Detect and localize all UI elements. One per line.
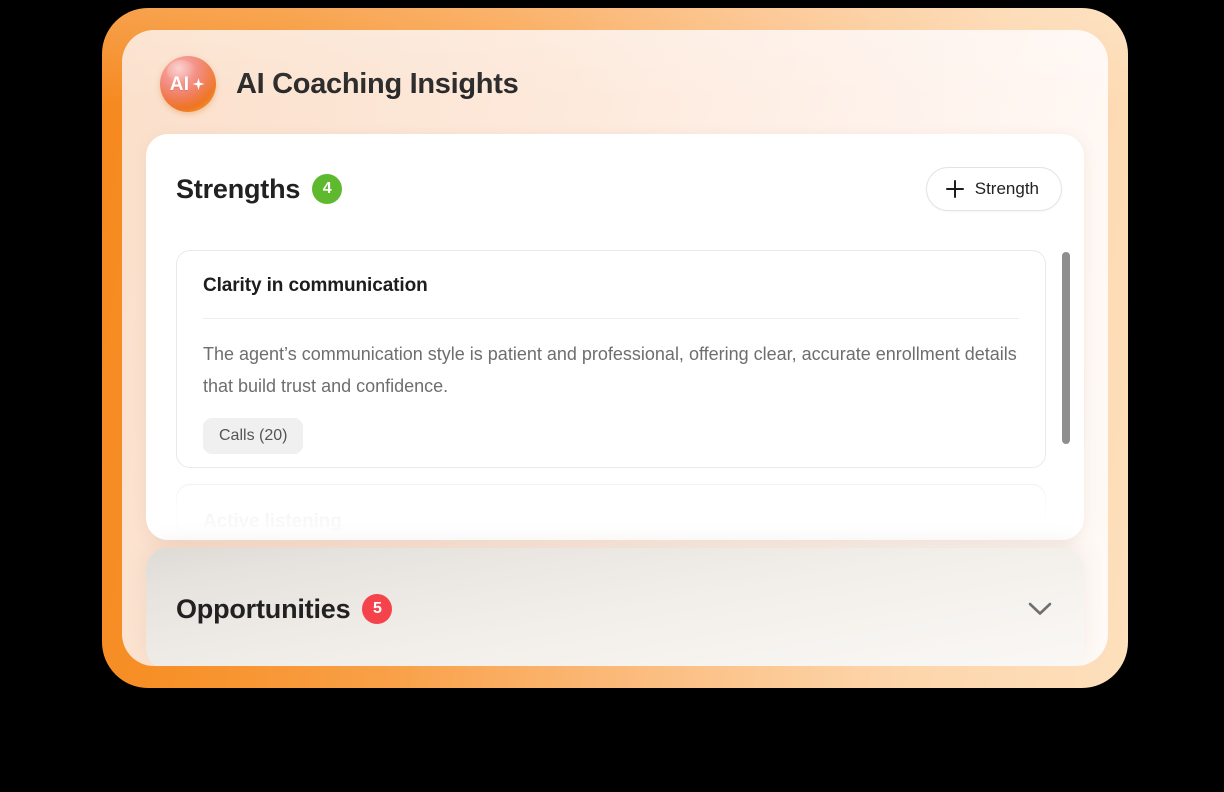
- strengths-title: Strengths: [176, 174, 300, 205]
- strength-item-card[interactable]: Active listening: [176, 484, 1046, 540]
- strength-item-description: The agent’s communication style is patie…: [203, 338, 1019, 402]
- insights-panel: AI AI Coaching Insights Strengths 4: [122, 30, 1108, 666]
- strengths-list[interactable]: Clarity in communication The agent’s com…: [146, 234, 1084, 540]
- panel-header: AI AI Coaching Insights: [160, 56, 518, 112]
- ai-badge-label: AI: [170, 75, 189, 94]
- screenshot-stage: AI AI Coaching Insights Strengths 4: [0, 0, 1224, 792]
- sparkle-icon: [191, 77, 206, 92]
- strengths-count-badge: 4: [312, 174, 342, 204]
- strength-item-calls-tag[interactable]: Calls (20): [203, 418, 303, 454]
- card-divider: [203, 318, 1019, 319]
- strengths-scrollbar-thumb[interactable]: [1062, 252, 1070, 444]
- page-title: AI Coaching Insights: [236, 68, 518, 101]
- opportunities-title-group: Opportunities 5: [176, 594, 392, 625]
- strengths-section: Strengths 4 Strength Clarity in communic…: [146, 134, 1084, 540]
- opportunities-section-header[interactable]: Opportunities 5: [146, 548, 1084, 666]
- chevron-down-icon[interactable]: [1028, 602, 1052, 616]
- add-strength-button[interactable]: Strength: [926, 167, 1062, 211]
- strengths-title-group: Strengths 4: [176, 174, 342, 205]
- strengths-header: Strengths 4 Strength: [176, 164, 1062, 214]
- strengths-scrollbar-track[interactable]: [1062, 252, 1070, 530]
- opportunities-title: Opportunities: [176, 594, 350, 625]
- opportunities-count-badge: 5: [362, 594, 392, 624]
- strength-item-card[interactable]: Clarity in communication The agent’s com…: [176, 250, 1046, 468]
- strength-item-title: Clarity in communication: [203, 275, 1019, 297]
- strength-item-title: Active listening: [203, 511, 1019, 533]
- ai-badge-content: AI: [170, 75, 206, 94]
- add-strength-label: Strength: [975, 179, 1039, 199]
- plus-icon: [946, 180, 964, 198]
- ai-badge: AI: [160, 56, 216, 112]
- device-frame: AI AI Coaching Insights Strengths 4: [102, 8, 1128, 688]
